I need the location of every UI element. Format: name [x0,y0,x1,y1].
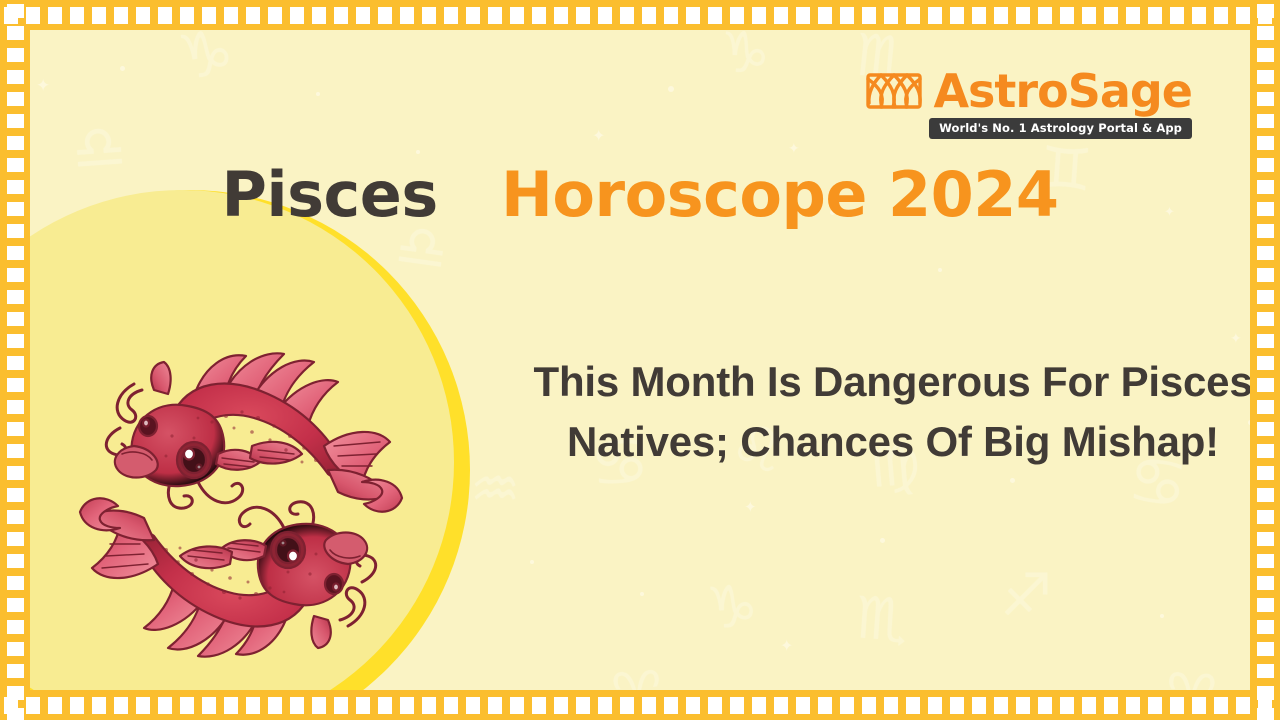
watermark-aquarius-icon: ♒ [470,462,520,518]
border-perforations-top [0,0,1280,30]
page-title-topic: Horoscope 2024 [501,158,1058,231]
border-perforations-right [1250,0,1280,720]
watermark-scorpio-icon: ♏ [854,588,910,649]
watermark-dot [120,66,125,71]
watermark-dot [316,92,320,96]
watermark-dot [1160,614,1164,618]
astrosage-tagline: World's No. 1 Astrology Portal & App [929,118,1192,139]
watermark-aries-icon: ♈ [610,664,664,690]
watermark-dot [938,268,942,272]
border-strip-bottom [0,690,1280,720]
watermark-dot [880,538,885,543]
koi-fish-lower [80,498,376,656]
logo-row: AstroSage [865,68,1192,114]
watermark-capricorn-icon: ♑ [705,577,760,638]
border-strip-right [1250,0,1280,720]
watermark-dot [416,150,420,154]
astrosage-wordmark: AstroSage [933,68,1192,114]
horoscope-banner: ♑♏♎♊♑♎♋♌♋♍♑♏♐♈♈♒✦✦✦✦✦✦✦✦ [0,0,1280,720]
watermark-star-icon: ✦ [744,500,757,515]
border-strip-top [0,0,1280,30]
watermark-capricorn-icon: ♑ [719,30,771,83]
astrosage-logo[interactable]: AstroSage World's No. 1 Astrology Portal… [865,68,1192,139]
watermark-star-icon: ✦ [36,78,50,95]
watermark-dot [1010,478,1015,483]
watermark-star-icon: ✦ [788,142,800,156]
watermark-star-icon: ✦ [1230,332,1242,346]
page-title-sign: Pisces [221,158,437,231]
watermark-star-icon: ✦ [780,638,793,654]
border-strip-left [0,0,30,720]
watermark-dot [530,560,534,564]
banner-inner-face: ♑♏♎♊♑♎♋♌♋♍♑♏♐♈♈♒✦✦✦✦✦✦✦✦ [30,30,1250,690]
astrosage-lattice-icon [865,71,923,111]
border-perforations-bottom [0,690,1280,720]
watermark-star-icon: ✦ [592,128,605,144]
pisces-fish-illustration [76,350,406,660]
koi-fish-upper [106,353,402,511]
watermark-capricorn-icon: ♑ [174,30,238,90]
page-title: Pisces Horoscope 2024 [30,162,1250,227]
page-subtitle: This Month Is Dangerous For Pisces Nativ… [528,352,1250,471]
watermark-dot [640,592,644,596]
watermark-sagittarius-icon: ♐ [1000,566,1052,624]
watermark-dot [668,86,674,92]
border-perforations-left [0,0,30,720]
watermark-aries-icon: ♈ [1165,667,1218,690]
